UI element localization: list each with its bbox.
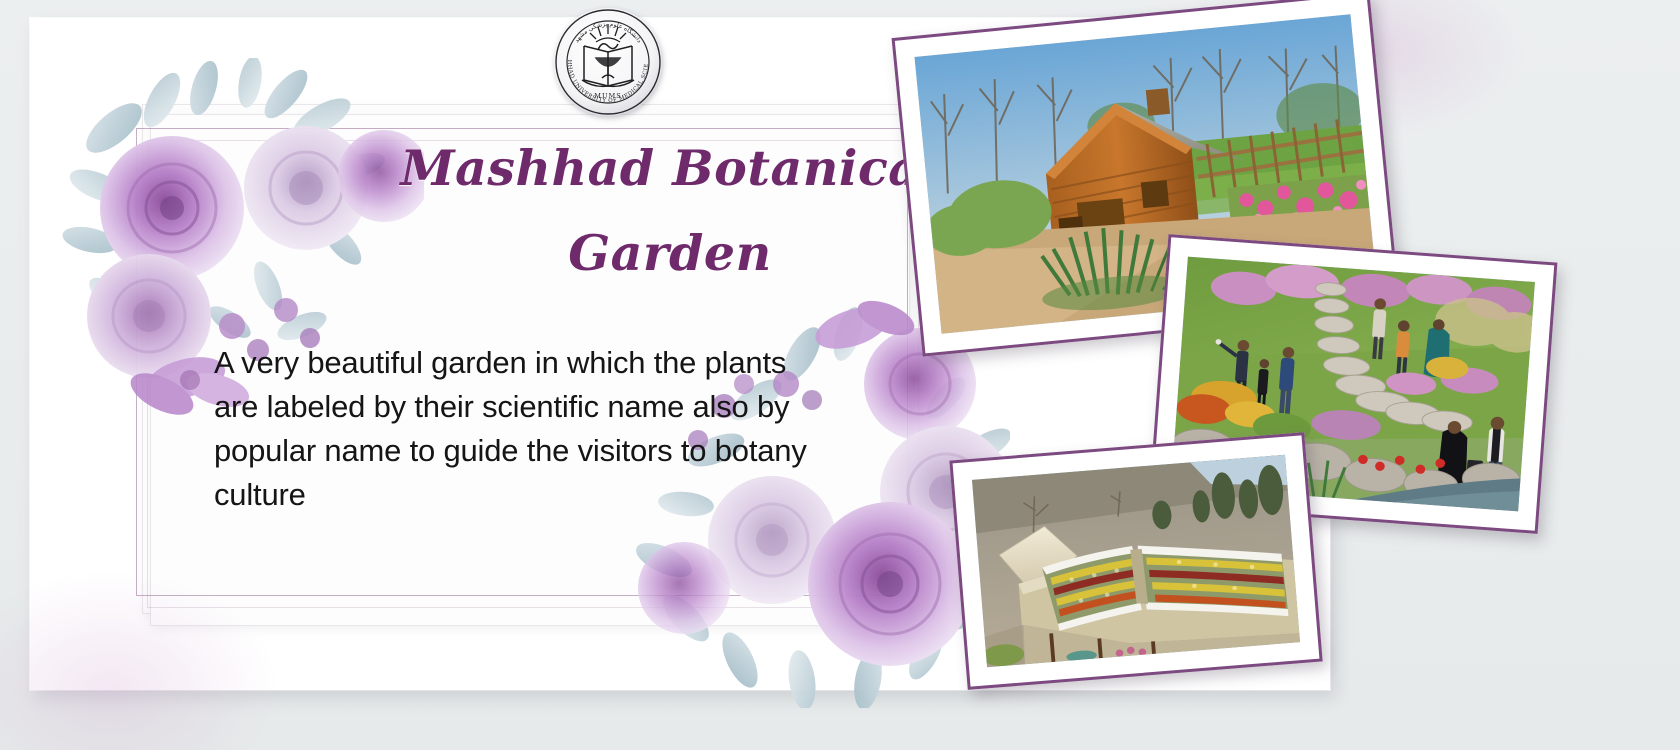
description-paragraph: A very beautiful garden in which the pla… [214,341,814,517]
mums-logo: دانشگاه علوم پزشکی مشهد MASHHAD UNIVERSI… [552,6,664,118]
page-title: Mashhad Botanical Garden [390,144,950,278]
title-line-2: Garden [390,229,950,278]
svg-text:MUMS: MUMS [594,92,622,100]
title-line-1: Mashhad Botanical [390,144,950,193]
photo-book-flowerbed-image [972,455,1300,668]
photo-book-flowerbed[interactable] [949,432,1322,690]
